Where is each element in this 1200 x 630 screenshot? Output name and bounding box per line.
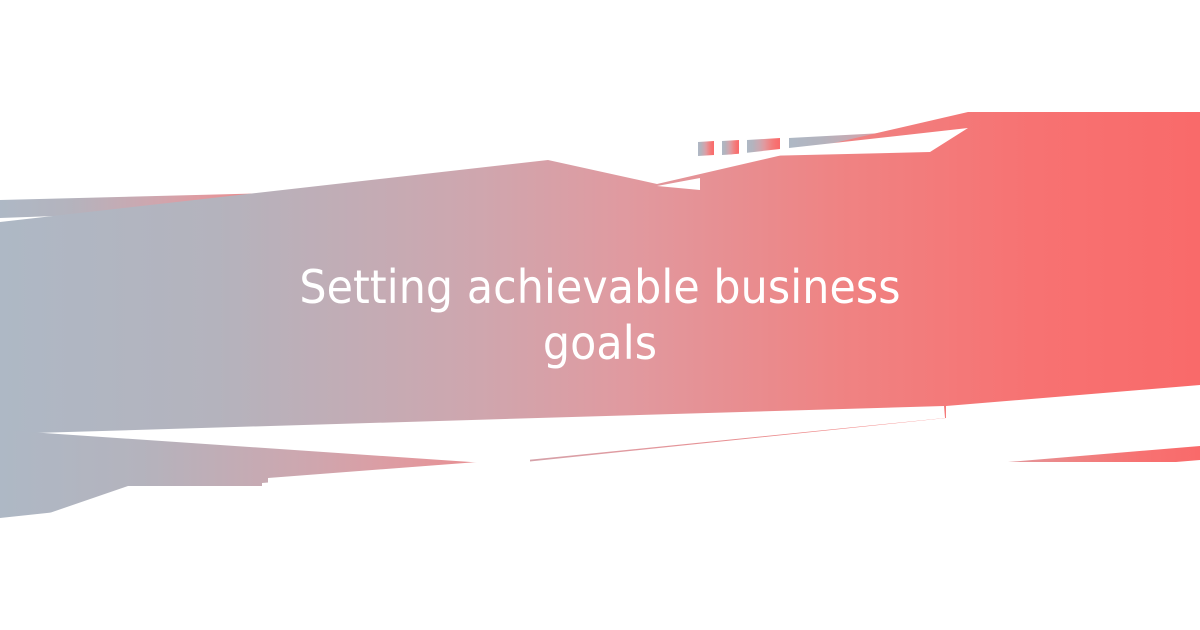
- shape-dash-small-2: [722, 140, 739, 155]
- decorative-banner-graphic: [0, 0, 1200, 630]
- banner-root: Setting achievable business goals: [0, 0, 1200, 630]
- shape-dash-small-1: [698, 141, 714, 156]
